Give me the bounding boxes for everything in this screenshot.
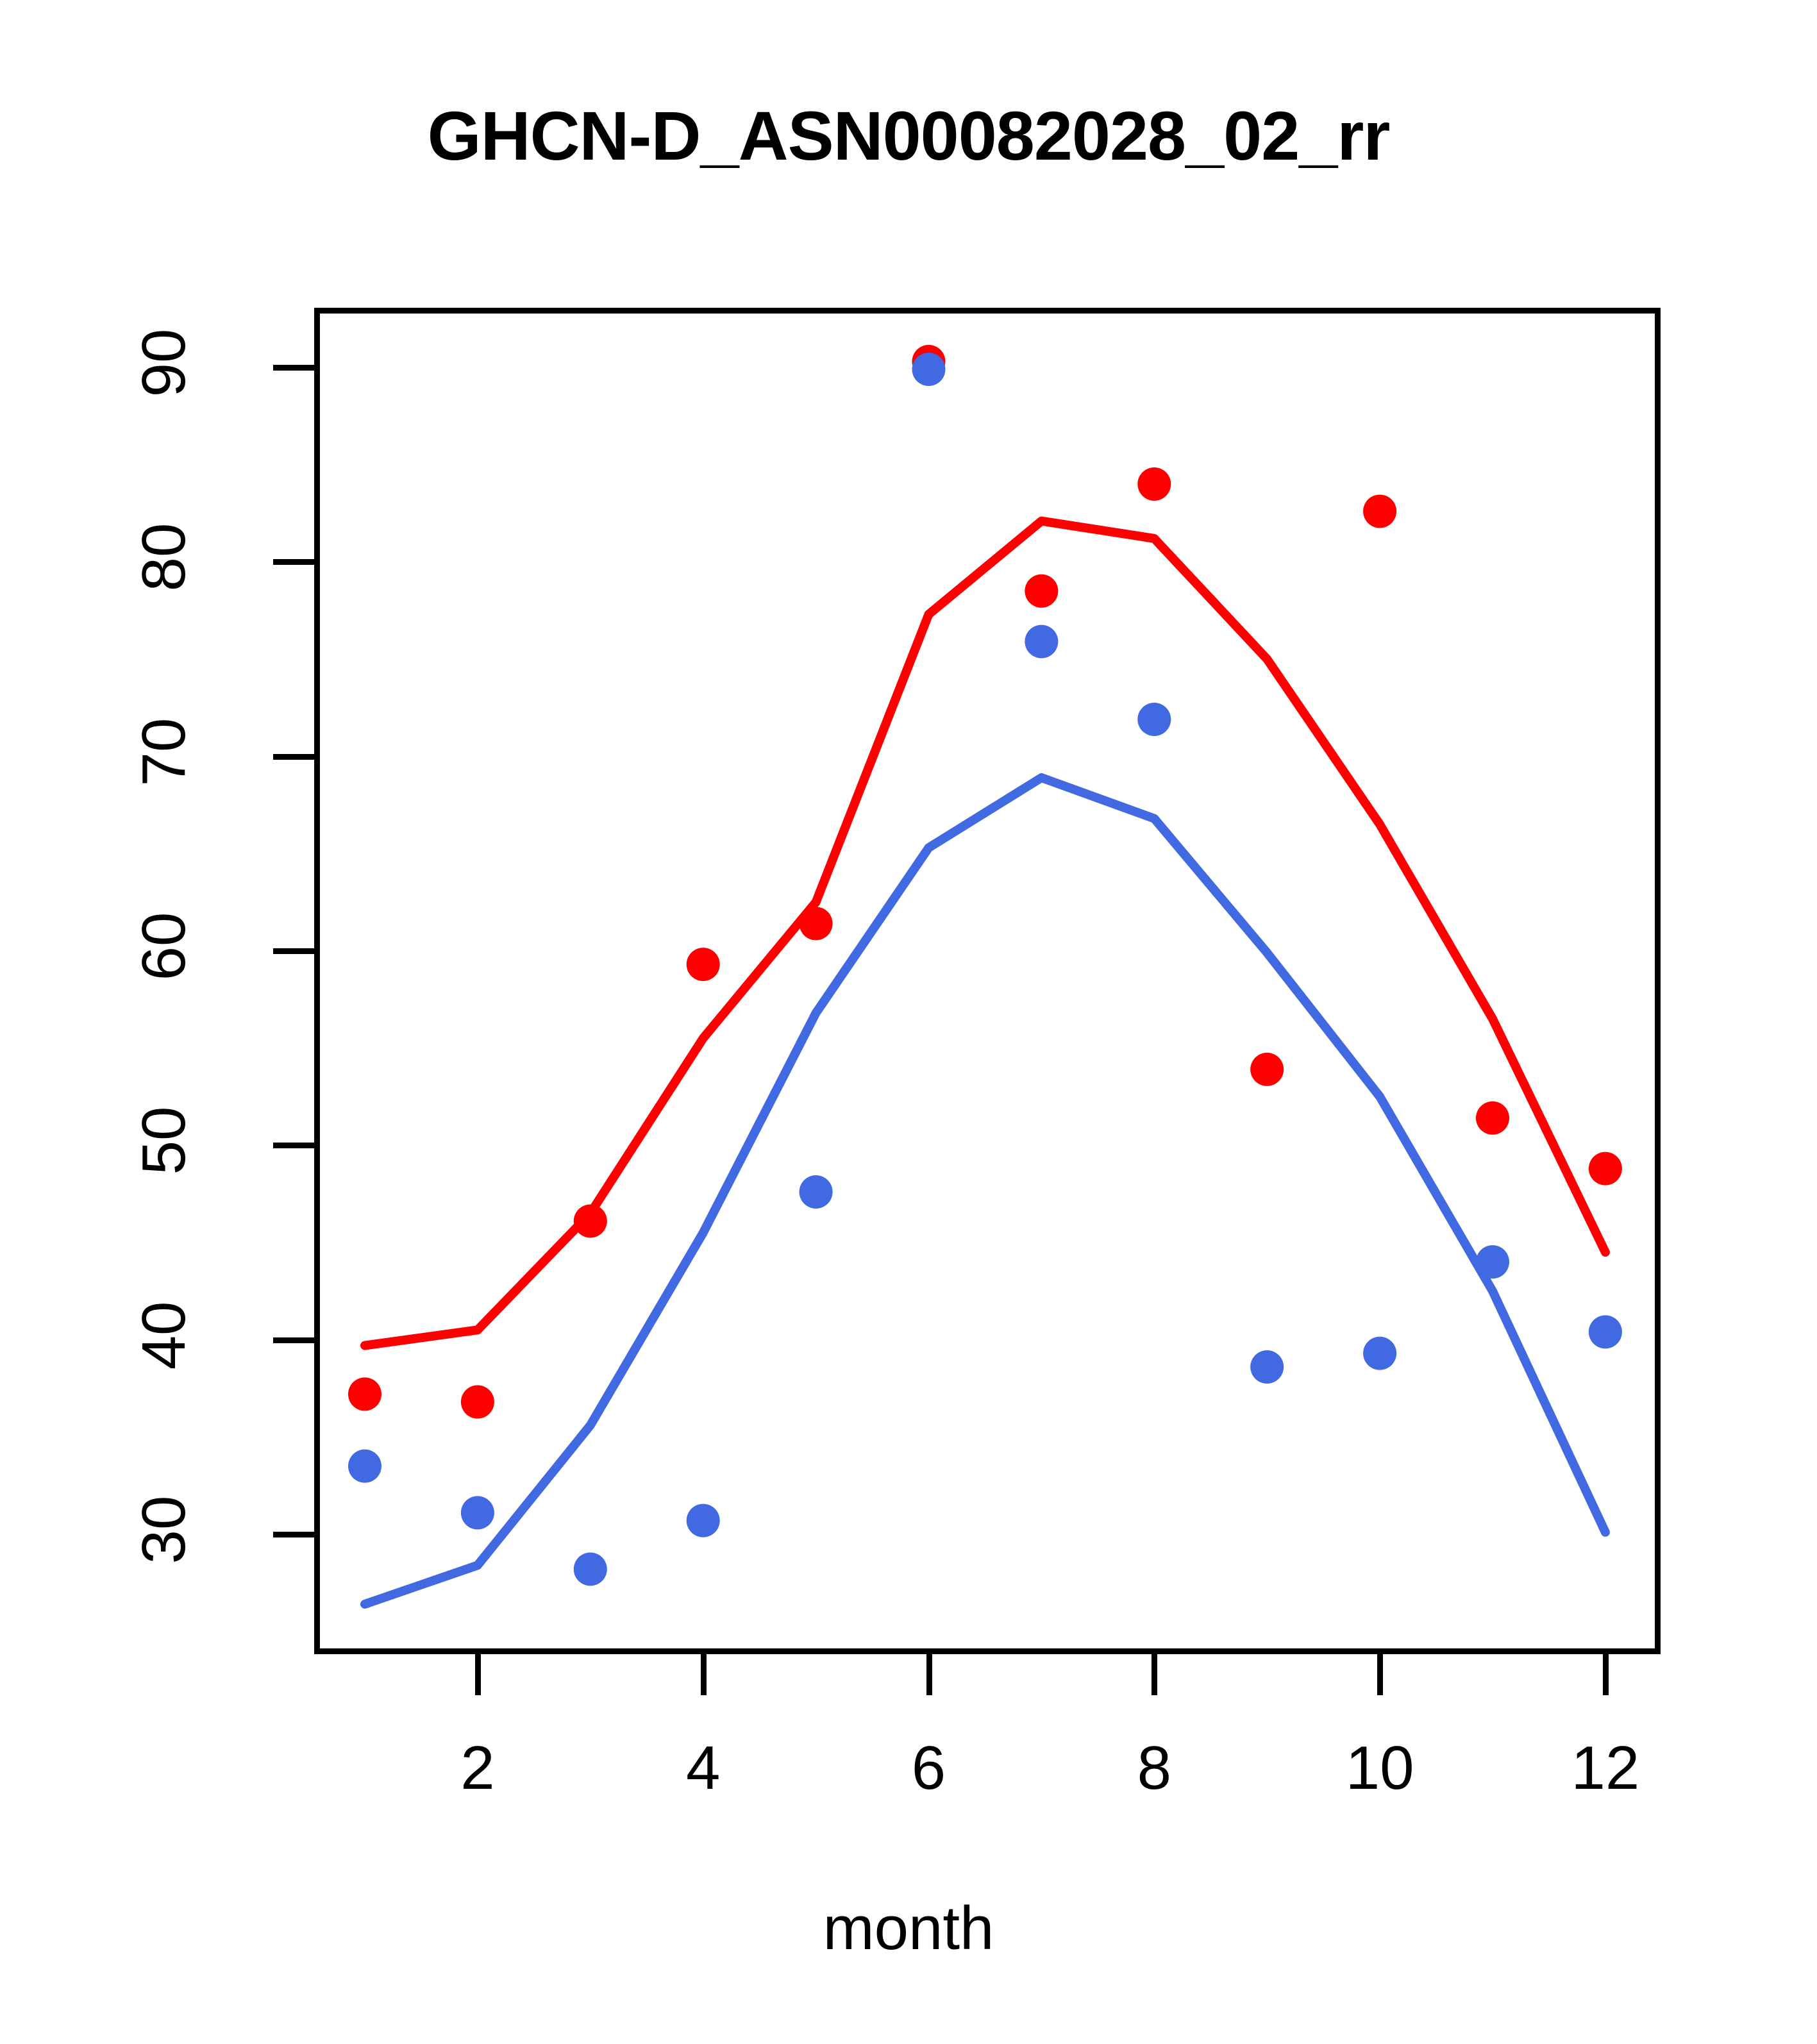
data-point — [461, 1496, 494, 1529]
x-axis-tick-label: 4 — [686, 1738, 720, 1799]
plot-area — [314, 308, 1661, 1654]
data-point — [1137, 467, 1171, 501]
x-axis-label: month — [0, 1898, 1817, 1959]
data-point — [574, 1552, 607, 1586]
data-point — [1250, 1053, 1284, 1086]
data-point — [1363, 1337, 1396, 1370]
data-point — [800, 1175, 833, 1209]
x-axis-tick-mark — [926, 1654, 932, 1695]
x-axis-tick-label: 12 — [1571, 1738, 1640, 1799]
data-point — [348, 1450, 381, 1483]
x-axis-tick-label: 6 — [912, 1738, 946, 1799]
data-point — [687, 1504, 720, 1537]
plot-canvas — [314, 308, 1661, 1654]
series-points-blue-points — [348, 353, 1622, 1586]
data-point — [574, 1204, 607, 1237]
x-axis-tick-mark — [1377, 1654, 1383, 1695]
x-axis-tick-label: 8 — [1137, 1738, 1171, 1799]
x-axis-tick-mark — [701, 1654, 707, 1695]
chart-page: GHCN-D_ASN00082028_02_rr 30405060708090 … — [0, 0, 1817, 2044]
data-point — [1363, 494, 1396, 528]
data-point — [1476, 1102, 1509, 1135]
series-points-red-points — [348, 345, 1622, 1419]
data-point — [1476, 1245, 1509, 1278]
x-axis-tick-mark — [1603, 1654, 1609, 1695]
data-point — [1250, 1350, 1284, 1384]
x-axis-tick-mark — [1151, 1654, 1157, 1695]
data-point — [1589, 1152, 1622, 1185]
data-point — [912, 353, 946, 386]
data-point — [1137, 703, 1171, 736]
series-line-red-line — [365, 521, 1605, 1346]
data-point — [800, 907, 833, 940]
x-axis-tick-label: 2 — [460, 1738, 494, 1799]
series-line-blue-line — [365, 778, 1605, 1604]
x-axis-tick-mark — [475, 1654, 481, 1695]
data-point — [687, 948, 720, 981]
data-point — [1589, 1315, 1622, 1348]
data-point — [1025, 625, 1058, 658]
data-point — [461, 1386, 494, 1419]
data-point — [348, 1377, 381, 1411]
x-axis-tick-label: 10 — [1346, 1738, 1414, 1799]
data-point — [1025, 574, 1058, 608]
